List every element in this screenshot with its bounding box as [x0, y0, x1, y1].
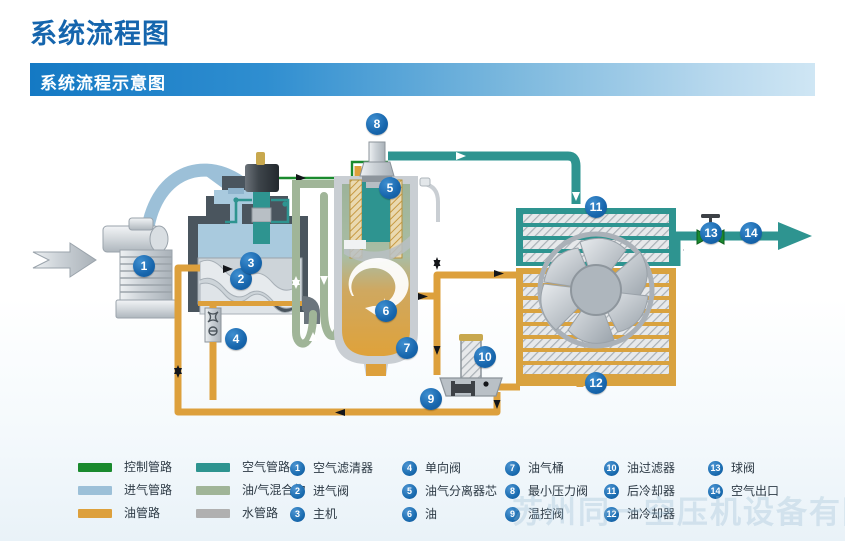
legend-item-8: 最小压力阀 — [528, 484, 588, 499]
legend-swatch-water-line — [196, 509, 230, 518]
callout-5: 5 — [379, 177, 401, 199]
legend-item-12: 油冷却器 — [627, 507, 675, 522]
callout-8: 8 — [366, 113, 388, 135]
callout-13: 13 — [700, 222, 722, 244]
system-flow-diagram: 1 2 3 4 5 6 7 8 9 10 11 12 13 14 — [0, 100, 845, 450]
legend-item-1: 空气滤清器 — [313, 461, 373, 476]
legend-swatch-intake-line — [78, 486, 112, 495]
callout-10: 10 — [474, 346, 496, 368]
legend-num-5: 5 — [402, 484, 417, 499]
legend-num-4: 4 — [402, 461, 417, 476]
legend-label-control-line: 控制管路 — [124, 461, 172, 473]
legend-swatch-air-line — [196, 463, 230, 472]
legend: 控制管路 进气管路 油管路 空气管路 油/气混合物 水管路 1 空气滤清器 2 … — [0, 452, 845, 541]
legend-item-7: 油气桶 — [528, 461, 564, 476]
legend-num-3: 3 — [290, 507, 305, 522]
legend-num-14: 14 — [708, 484, 723, 499]
check-valve-assembly — [205, 308, 221, 342]
legend-num-11: 11 — [604, 484, 619, 499]
legend-item-4: 单向阀 — [425, 461, 461, 476]
legend-item-13: 球阀 — [731, 461, 755, 476]
callout-1: 1 — [133, 255, 155, 277]
legend-num-2: 2 — [290, 484, 305, 499]
oil-gas-tank — [334, 174, 438, 376]
legend-label-intake-line: 进气管路 — [124, 484, 172, 496]
callout-4: 4 — [225, 328, 247, 350]
cooling-fan — [540, 234, 652, 346]
callout-14: 14 — [740, 222, 762, 244]
legend-item-14: 空气出口 — [731, 484, 779, 499]
callout-9: 9 — [420, 388, 442, 410]
legend-item-5: 油气分离器芯 — [425, 484, 497, 499]
subtitle-text: 系统流程示意图 — [40, 69, 166, 94]
legend-num-12: 12 — [604, 507, 619, 522]
legend-item-9: 温控阀 — [528, 507, 564, 522]
legend-label-air-line: 空气管路 — [242, 461, 290, 473]
legend-item-10: 油过滤器 — [627, 461, 675, 476]
legend-num-8: 8 — [505, 484, 520, 499]
legend-item-11: 后冷却器 — [627, 484, 675, 499]
air-intake-arrow — [33, 243, 96, 277]
thermostatic-valve — [440, 378, 502, 396]
page-title: 系统流程图 — [30, 12, 170, 51]
legend-item-6: 油 — [425, 507, 437, 522]
legend-num-6: 6 — [402, 507, 417, 522]
legend-num-1: 1 — [290, 461, 305, 476]
legend-item-3: 主机 — [313, 507, 337, 522]
legend-label-oil-line: 油管路 — [124, 507, 160, 519]
legend-num-10: 10 — [604, 461, 619, 476]
callout-11: 11 — [585, 196, 607, 218]
legend-label-water-line: 水管路 — [242, 507, 278, 519]
legend-swatch-control-line — [78, 463, 112, 472]
page-root: 系统流程图 系统流程示意图 — [0, 0, 845, 541]
legend-num-9: 9 — [505, 507, 520, 522]
legend-item-2: 进气阀 — [313, 484, 349, 499]
callout-12: 12 — [585, 372, 607, 394]
callout-3: 3 — [240, 252, 262, 274]
legend-swatch-oil-line — [78, 509, 112, 518]
legend-num-13: 13 — [708, 461, 723, 476]
legend-num-7: 7 — [505, 461, 520, 476]
legend-swatch-oil-gas-mix — [196, 486, 230, 495]
callout-6: 6 — [375, 300, 397, 322]
callout-7: 7 — [396, 337, 418, 359]
